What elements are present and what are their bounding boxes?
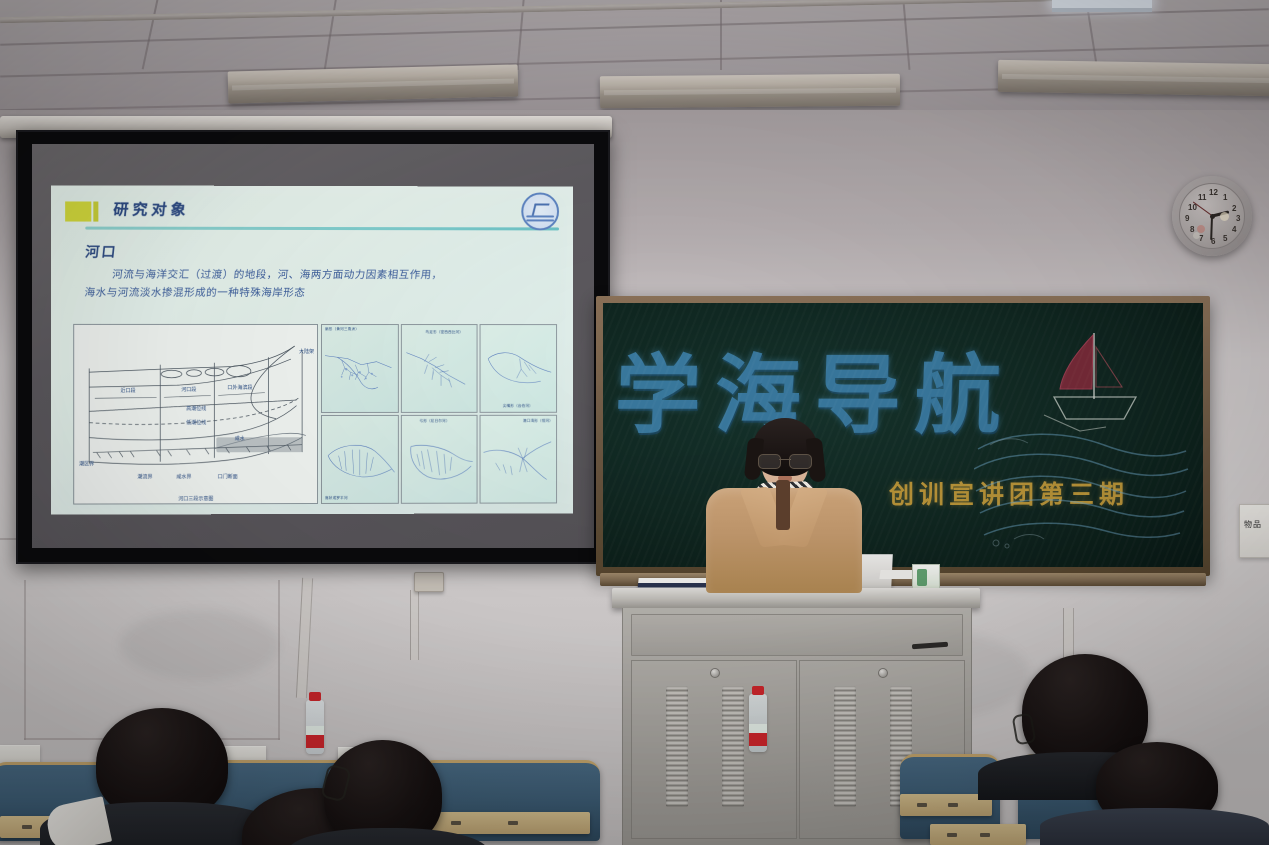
cable-conduit <box>410 590 419 660</box>
figure-label-saltwater: 咸水 <box>235 435 245 442</box>
fluorescent-fixture <box>998 60 1269 96</box>
cable-conduit <box>296 578 313 698</box>
clock-numeral: 2 <box>1232 204 1236 213</box>
delta-map-cell: 港口湾形（恒河） <box>480 415 557 504</box>
skylight-window <box>1052 0 1152 8</box>
presenter-coat-opening <box>776 480 790 530</box>
presentation-slide: 研究对象 河口 河流与海洋交汇（过渡）的地段，河、海两方面动力因素相互作用， 海… <box>51 185 573 514</box>
figure-caption: 河口三段示意图 <box>178 495 213 502</box>
delta-map-cell: 扇形（黄河三角洲） <box>321 324 399 413</box>
delta-map-caption: 扇形（黄河三角洲） <box>325 327 359 332</box>
slide-body-line-1: 河流与海洋交汇（过渡）的地段，河、海两方面动力因素相互作用， <box>85 266 554 285</box>
delta-map-cell: 鸟足形（密西西比河） <box>401 324 478 413</box>
ceiling <box>0 0 1269 128</box>
figure-label-lowtide: 低潮位线 <box>186 419 206 426</box>
slide-heading: 研究对象 <box>112 199 191 220</box>
figure-label-shelf: 大陆架 <box>299 348 314 355</box>
fluorescent-fixture <box>228 64 519 103</box>
figure-label-tidecurrent: 潮流界 <box>137 473 152 480</box>
delta-map-caption: 弓形（尼日尔河） <box>419 419 449 424</box>
clock-numeral: 1 <box>1223 193 1227 202</box>
clock-numeral: 9 <box>1185 214 1189 223</box>
audience-area <box>0 690 1269 845</box>
lectern-drawer[interactable] <box>631 614 963 656</box>
screen-surface: 研究对象 河口 河流与海洋交汇（过渡）的地段，河、海两方面动力因素相互作用， 海… <box>32 144 594 548</box>
figure-label-tidezone: 潮区界 <box>79 461 94 468</box>
delta-map-grid: 扇形（黄河三角洲） 鸟足形（密西西比河） <box>321 324 557 504</box>
delta-map-caption: 鸟足形（密西西比河） <box>425 330 463 335</box>
clock-center-pin <box>1210 214 1215 219</box>
projection-screen: 研究对象 河口 河流与海洋交汇（过渡）的地段，河、海两方面动力因素相互作用， 海… <box>16 130 610 564</box>
chalkboard-surface: 学海导航 创训宣讲团第三期 <box>603 303 1203 567</box>
figure-label-mouthsection: 口门断面 <box>218 473 238 480</box>
eyeglasses <box>758 454 812 467</box>
cabinet-lock[interactable] <box>878 668 888 678</box>
slide-body-line-2: 海水与河流淡水掺混形成的一种特殊海岸形态 <box>84 287 306 299</box>
water-bottle <box>306 700 324 754</box>
slide-accent-block <box>65 201 91 221</box>
cabinet-lock[interactable] <box>710 668 720 678</box>
university-seal-logo <box>521 192 559 230</box>
delta-map-caption: 港口湾形（恒河） <box>523 419 553 424</box>
figure-label-mouth: 河口段 <box>181 386 196 393</box>
figure-label-outer: 口外海滨段 <box>227 384 252 391</box>
clock-numeral: 5 <box>1223 234 1227 243</box>
delta-map-caption: 席状或罗平河 <box>325 496 348 501</box>
water-bottle <box>749 694 767 752</box>
student-shoulders <box>1040 808 1269 845</box>
clock-numeral: 3 <box>1236 214 1240 223</box>
drawer-handle[interactable] <box>912 642 948 649</box>
slide-figure-group: 大陆架 近口段 河口段 口外海滨段 高潮位线 低潮位线 咸水 潮区界 潮流界 咸… <box>73 324 557 505</box>
chalkboard-subtitle: 创训宣讲团第三期 <box>889 475 1129 511</box>
figure-label-hightide: 高潮位线 <box>186 405 206 412</box>
sailboat-chalk-drawing <box>1036 327 1151 452</box>
chalkboard: 学海导航 创训宣讲团第三期 <box>596 296 1210 576</box>
delta-map-cell: 席状或罗平河 <box>321 415 399 504</box>
clock-dial: 12 1 2 3 4 5 6 7 8 9 10 11 <box>1179 183 1245 249</box>
slide-divider-rule <box>85 227 559 231</box>
clock-numeral: 11 <box>1198 193 1206 202</box>
figure-label-near: 近口段 <box>120 387 135 394</box>
delta-map-caption: 尖嘴形（台伯河） <box>503 404 533 409</box>
classroom-scene: 物品 研究对象 河口 河流与海洋交汇（过渡）的地段，河、海两方面动力因素相互作用… <box>0 0 1269 845</box>
fluorescent-fixture <box>600 74 900 109</box>
presenter <box>700 418 868 593</box>
slide-body-text: 河流与海洋交汇（过渡）的地段，河、海两方面动力因素相互作用， 海水与河流淡水掺混… <box>84 266 555 303</box>
clock-numeral: 4 <box>1232 225 1236 234</box>
delta-map-cell: 弓形（尼日尔河） <box>401 415 478 504</box>
slide-accent-bar <box>93 202 98 222</box>
wall-sign-text: 物品 <box>1244 519 1262 530</box>
wall-clock: 12 1 2 3 4 5 6 7 8 9 10 11 <box>1172 176 1252 256</box>
wall-sign: 物品 <box>1239 504 1269 558</box>
delta-map-cell: 尖嘴形（台伯河） <box>480 324 557 413</box>
estuary-schematic-figure: 大陆架 近口段 河口段 口外海滨段 高潮位线 低潮位线 咸水 潮区界 潮流界 咸… <box>73 324 318 505</box>
desk-writing-surface <box>930 824 1026 845</box>
clock-numeral: 12 <box>1209 188 1218 197</box>
wave-lines-chalk-drawing <box>974 415 1189 555</box>
slide-section-label: 河口 <box>84 242 118 262</box>
junction-box <box>414 572 444 592</box>
figure-label-saltline: 咸水界 <box>176 473 191 480</box>
